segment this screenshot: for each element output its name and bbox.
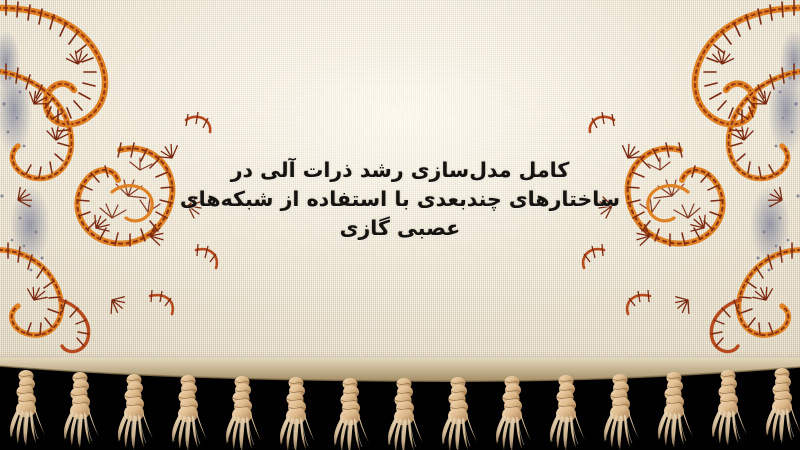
slide-title: کامل مدل‌سازی رشد ذرات آلی در ساختارهای … xyxy=(150,156,650,243)
slide-canvas: کامل مدل‌سازی رشد ذرات آلی در ساختارهای … xyxy=(0,0,800,450)
title-line-1: کامل مدل‌سازی رشد ذرات آلی در xyxy=(150,156,650,185)
title-line-3: عصبی گازی xyxy=(150,214,650,243)
title-line-2: ساختارهای چندبعدی با استفاده از شبکه‌های xyxy=(150,185,650,214)
tassel-fringe-icon xyxy=(0,358,800,450)
